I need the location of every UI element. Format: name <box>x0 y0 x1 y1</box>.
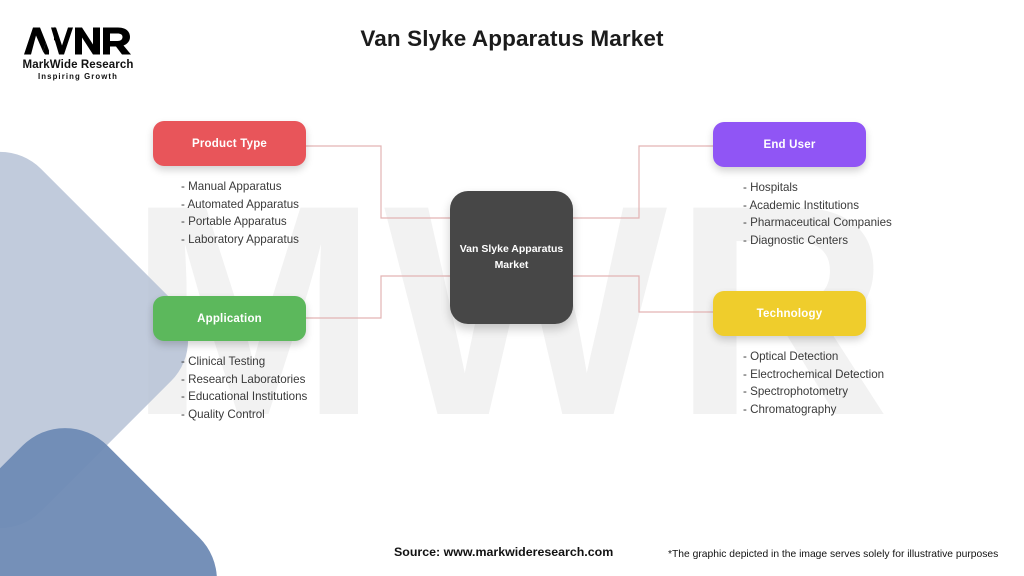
category-label-application: Application <box>197 313 262 325</box>
category-chip-product-type[interactable]: Product Type <box>153 121 306 166</box>
category-product-type: Product Type - Manual Apparatus - Automa… <box>153 121 306 248</box>
category-label-end-user: End User <box>763 139 815 151</box>
list-item: - Automated Apparatus <box>181 196 306 214</box>
list-item: - Chromatography <box>743 401 884 419</box>
category-label-product-type: Product Type <box>192 138 267 150</box>
list-item: - Clinical Testing <box>181 353 307 371</box>
category-chip-application[interactable]: Application <box>153 296 306 341</box>
list-item: - Pharmaceutical Companies <box>743 214 892 232</box>
footer-source[interactable]: Source: www.markwideresearch.com <box>394 545 613 559</box>
category-label-technology: Technology <box>757 308 823 320</box>
hub-node[interactable]: Van Slyke Apparatus Market <box>450 191 573 324</box>
list-item: - Electrochemical Detection <box>743 366 884 384</box>
list-item: - Portable Apparatus <box>181 213 306 231</box>
list-item: - Laboratory Apparatus <box>181 231 306 249</box>
category-list-technology: - Optical Detection - Electrochemical De… <box>743 348 884 418</box>
list-item: - Hospitals <box>743 179 892 197</box>
hub-label: Van Slyke Apparatus Market <box>450 242 573 272</box>
list-item: - Quality Control <box>181 406 307 424</box>
category-end-user: End User - Hospitals - Academic Institut… <box>713 122 892 249</box>
list-item: - Diagnostic Centers <box>743 232 892 250</box>
infographic-canvas: MWR MarkWide Research Inspiring Growth V… <box>0 0 1024 576</box>
category-chip-technology[interactable]: Technology <box>713 291 866 336</box>
list-item: - Manual Apparatus <box>181 178 306 196</box>
category-technology: Technology - Optical Detection - Electro… <box>713 291 884 418</box>
category-application: Application - Clinical Testing - Researc… <box>153 296 307 423</box>
list-item: - Educational Institutions <box>181 388 307 406</box>
list-item: - Spectrophotometry <box>743 383 884 401</box>
list-item: - Optical Detection <box>743 348 884 366</box>
category-chip-end-user[interactable]: End User <box>713 122 866 167</box>
category-list-product-type: - Manual Apparatus - Automated Apparatus… <box>181 178 306 248</box>
list-item: - Academic Institutions <box>743 197 892 215</box>
footer-disclaimer: *The graphic depicted in the image serve… <box>668 549 998 560</box>
category-list-end-user: - Hospitals - Academic Institutions - Ph… <box>743 179 892 249</box>
category-list-application: - Clinical Testing - Research Laboratori… <box>181 353 307 423</box>
list-item: - Research Laboratories <box>181 371 307 389</box>
